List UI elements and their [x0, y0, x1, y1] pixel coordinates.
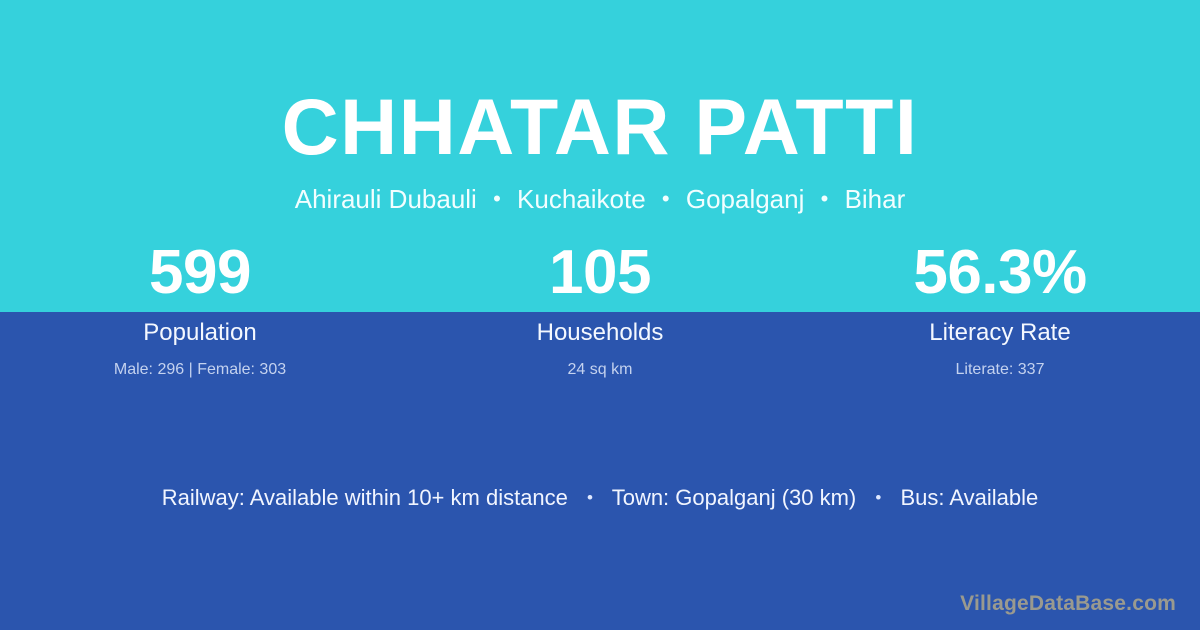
breadcrumb-separator-icon: •: [484, 182, 510, 216]
breadcrumb: Ahirauli Dubauli • Kuchaikote • Gopalgan…: [0, 182, 1200, 216]
stat-label-households: Households: [400, 318, 800, 348]
stat-value-literacy-rate: 56.3%: [800, 240, 1200, 308]
village-info-card: CHHATAR PATTI Ahirauli Dubauli • Kuchaik…: [0, 0, 1200, 630]
facility-separator-icon: •: [862, 483, 894, 513]
breadcrumb-item-district: Gopalganj: [686, 184, 805, 214]
stat-sub-population: Male: 296 | Female: 303: [0, 359, 400, 381]
breadcrumb-item-state: Bihar: [845, 184, 906, 214]
site-brand-watermark: VillageDataBase.com: [960, 590, 1176, 618]
stat-value-population: 599: [0, 240, 400, 308]
stat-sub-literacy-rate: Literate: 337: [800, 359, 1200, 381]
breadcrumb-separator-icon: •: [812, 182, 838, 216]
facility-separator-icon: •: [574, 483, 606, 513]
breadcrumb-separator-icon: •: [653, 182, 679, 216]
breadcrumb-item-block: Kuchaikote: [517, 184, 646, 214]
stat-literacy-rate: 56.3% Literacy Rate Literate: 337: [800, 240, 1200, 388]
facility-railway: Railway: Available within 10+ km distanc…: [162, 485, 568, 510]
stat-population: 599 Population Male: 296 | Female: 303: [0, 240, 400, 388]
card-header: CHHATAR PATTI Ahirauli Dubauli • Kuchaik…: [0, 0, 1200, 230]
page-title: CHHATAR PATTI: [0, 84, 1200, 170]
stat-label-literacy-rate: Literacy Rate: [800, 318, 1200, 348]
stat-label-population: Population: [0, 318, 400, 348]
facilities-summary: Railway: Available within 10+ km distanc…: [0, 483, 1200, 513]
breadcrumb-item-panchayat: Ahirauli Dubauli: [295, 184, 477, 214]
stat-sub-households: 24 sq km: [400, 359, 800, 381]
stats-row: 599 Population Male: 296 | Female: 303 1…: [0, 240, 1200, 388]
stat-households: 105 Households 24 sq km: [400, 240, 800, 388]
facility-bus: Bus: Available: [900, 485, 1038, 510]
facility-nearest-town: Town: Gopalganj (30 km): [612, 485, 857, 510]
stat-value-households: 105: [400, 240, 800, 308]
